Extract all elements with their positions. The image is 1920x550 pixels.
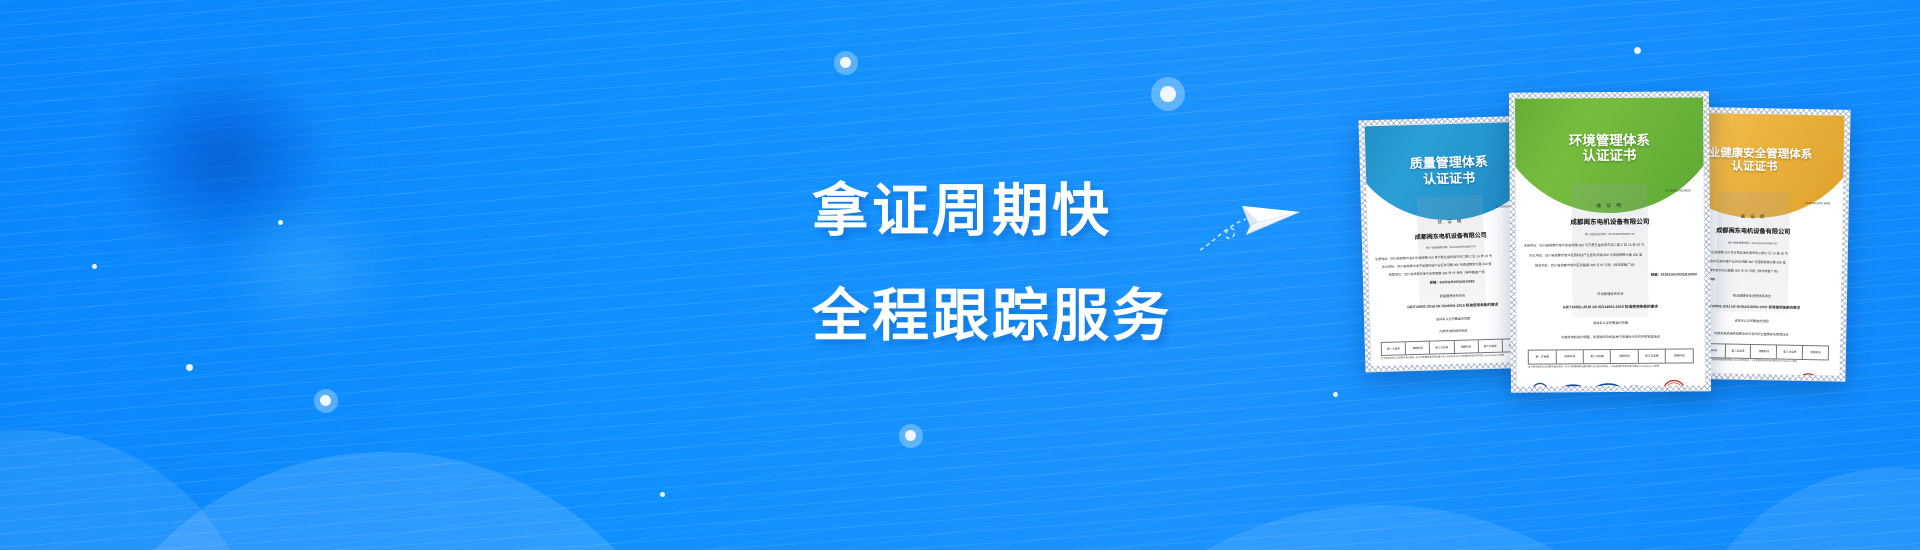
decor-dot	[905, 430, 916, 441]
certificate-body: HXC BEIJING HXC BEIJING HXC BEIJING HXC …	[1515, 97, 1705, 386]
certificate-audit-table: 第一次监审 预期时间 第二次监审 预期时间 第三次监审 预期时间	[1528, 348, 1694, 365]
certificate-title: 环境管理体系 认证证书	[1515, 132, 1703, 165]
table-cell: 预期时间	[1751, 345, 1777, 358]
table-cell: 第三次监审	[1777, 346, 1803, 359]
banner-headline: 拿证周期快 全程跟踪服务	[812, 170, 1172, 358]
paper-plane-icon	[1196, 186, 1306, 256]
decor-circle-bottom-far-right	[1680, 468, 1920, 550]
table-cell: 第二次监审	[1725, 345, 1751, 358]
certificate-scope-label: 该体系认证所覆盖的范围	[1377, 314, 1530, 323]
table-cell: 第一次监审	[1529, 350, 1557, 364]
certificate-system-label: 环境管理体系符合	[1524, 290, 1697, 296]
table-cell: 第二次监审	[1584, 350, 1612, 364]
china-cert-seal-icon: 圆 中国认证认可	[1528, 380, 1552, 386]
table-cell: 第三次监审	[1639, 349, 1667, 363]
certificate-number: CT61HK2003JM06	[1805, 201, 1831, 205]
decor-dot	[320, 395, 331, 406]
certificate-standard: GB/T24001-2016 idt ISO14001:2015 标准使用条款的…	[1524, 304, 1697, 310]
decor-dot	[278, 220, 283, 225]
certificate-title: 质量管理体系 认证证书	[1366, 153, 1533, 188]
glow-blob-secondary	[180, 170, 440, 370]
certificate-note: 证书有效性和认证范围可通过查询一式三份管理制度范围内确认证认证机构发证，认证管理…	[1528, 365, 1693, 369]
certificate-title-line1: 环境管理体系	[1515, 132, 1703, 149]
certificate-number: CT41HK2002JM06	[1665, 188, 1691, 192]
table-cell: 预期时间	[1803, 346, 1828, 359]
headline-line-2: 全程跟踪服务	[812, 275, 1172, 358]
table-cell: 预期时间	[1406, 342, 1431, 355]
certificate-environment[interactable]: HXC BEIJING HXC BEIJING HXC BEIJING HXC …	[1509, 91, 1711, 392]
table-cell: 预期时间	[1666, 349, 1693, 363]
promo-banner: 拿证周期快 全程跟踪服务 HXC BEIJING HXC BEIJING HXC…	[0, 0, 1920, 550]
certificate-company-name: 成都闽东电机设备有限公司	[1516, 215, 1704, 226]
table-cell: 第二次监审	[1430, 341, 1455, 354]
decor-dot	[1634, 47, 1641, 54]
headline-line-1: 拿证周期快	[812, 170, 1172, 253]
table-cell: 预期时间	[1454, 340, 1479, 353]
decor-dot	[186, 364, 193, 371]
certificate-scope: 内燃发电机组的制造	[1377, 326, 1530, 335]
decor-dot	[1160, 86, 1176, 102]
certificate-address-3: 经营地址：四川省成都市金牛区凤凰路 368 号 55 号院（神华装备广场）	[1524, 261, 1697, 267]
decor-dot	[92, 264, 97, 269]
decor-dot	[840, 57, 851, 68]
certificate-watermark	[1416, 195, 1485, 307]
decor-circle-bottom-right	[1020, 505, 1740, 550]
certificate-scope: 内燃发电机组的销售、机房噪声及机组尾气处理所涉及的环境管理活动	[1524, 334, 1697, 340]
certificate-standard: GB/T19001-2016 idt ISO9001:2015 标准使用条款的要…	[1376, 302, 1529, 311]
table-cell: 第一次监审	[1382, 342, 1407, 355]
iaf-logo-icon: IAF	[1559, 383, 1587, 386]
table-cell: 第三次监审	[1478, 340, 1503, 353]
certificate-postcode: 邮编：610031/610031/610083	[1524, 271, 1697, 277]
table-cell: 预期时间	[1611, 349, 1639, 363]
red-stamp-icon: 认	[1661, 378, 1687, 386]
certificate-stack: HXC BEIJING HXC BEIJING HXC BEIJING HXC …	[1372, 92, 1917, 412]
certificate-scope-label: 该体系认证所覆盖的范围	[1524, 319, 1697, 325]
certificate-seal-row: 圆 中国认证认可 IAF CNAS 中国合格 评定国家 MANAGEMENT S…	[1528, 378, 1694, 386]
table-cell: 预期时间	[1556, 350, 1584, 364]
certificate-address-1: 注册地址：四川省成都市金牛区金府路 555 号万贯五金机电市场二期 C 区 14…	[1524, 241, 1697, 247]
certificate-address-2: 办公地址：四川省成都市金牛区高科技产业区玖河路 866 号西部钢铁大厦 606 …	[1524, 251, 1697, 257]
certificate-title-line2: 认证证书	[1515, 148, 1703, 165]
decor-dot	[1333, 392, 1338, 397]
certificate-credit-code: 统一社会信用代码：91510106760408773Y	[1523, 231, 1696, 236]
decor-dot	[660, 492, 665, 497]
